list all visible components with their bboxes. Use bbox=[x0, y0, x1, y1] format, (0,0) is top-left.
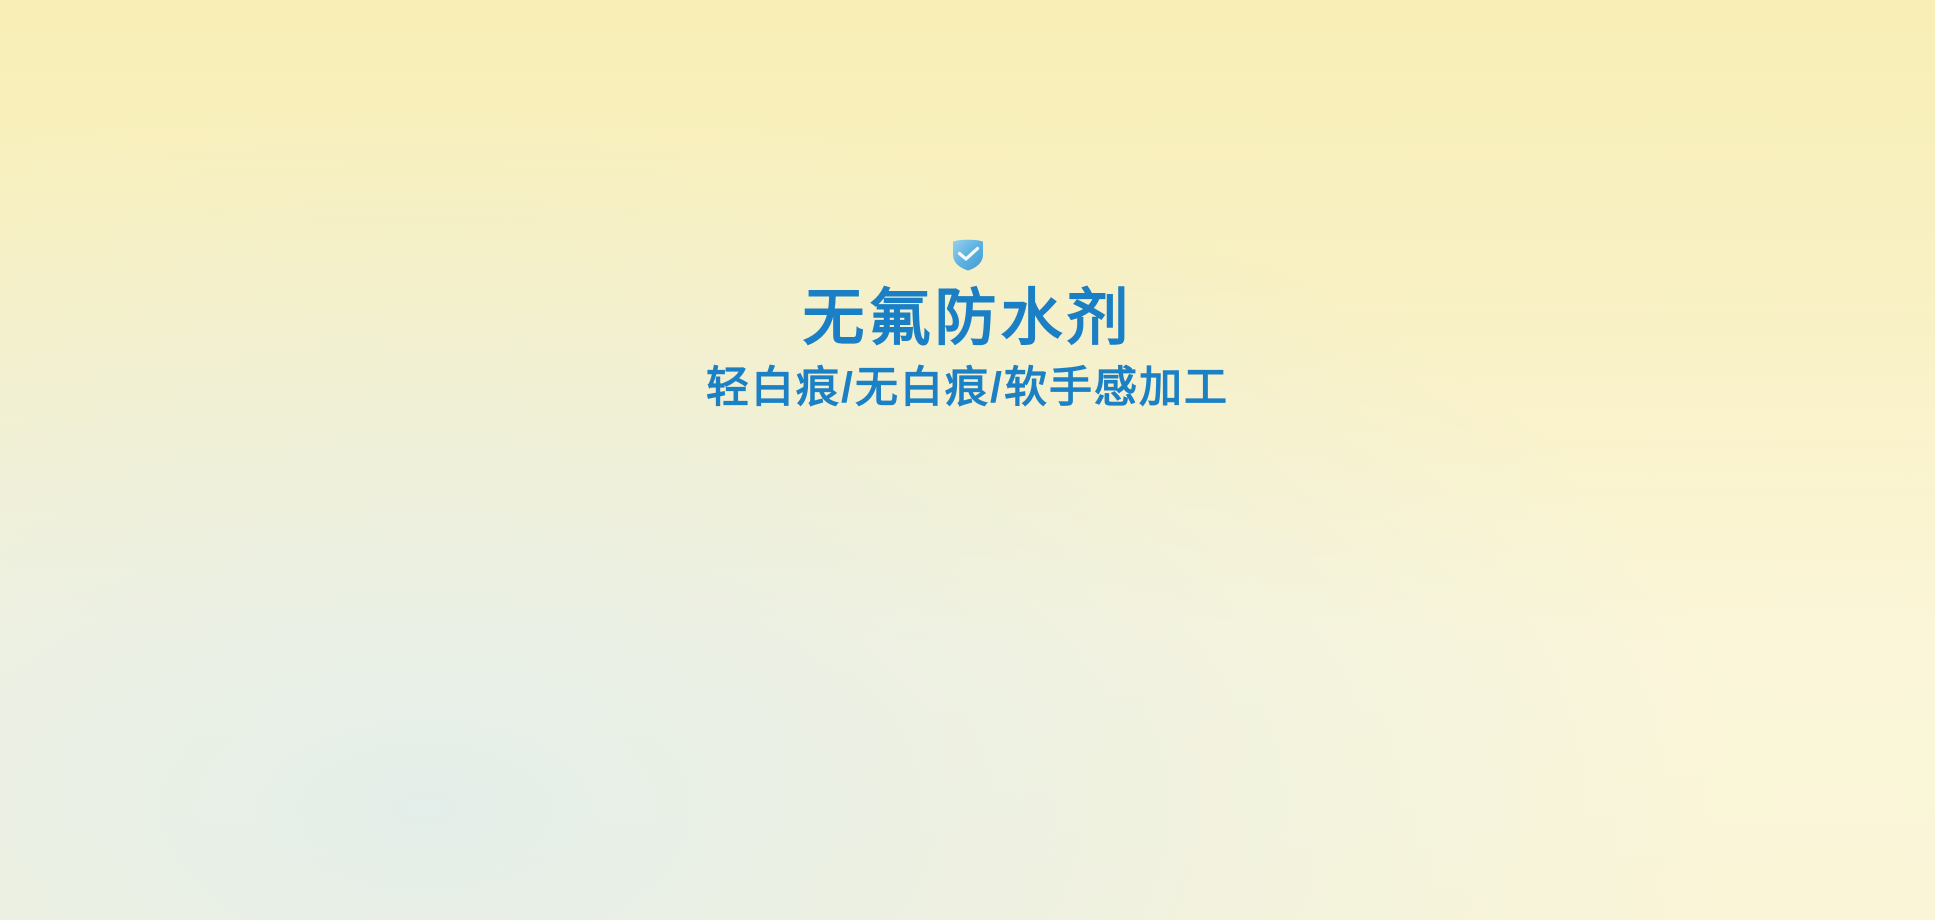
bg-top-left-deep-wedge bbox=[0, 0, 1935, 920]
bg-top-right-yellow-corner bbox=[0, 0, 1935, 920]
bg-top-right-thin-line bbox=[0, 0, 1935, 920]
bg-top-right-band-2 bbox=[0, 0, 1935, 920]
product-banner: 无氟防水剂 轻白痕/无白痕/软手感加工 bbox=[0, 0, 1935, 920]
bg-top-right-band bbox=[0, 0, 1935, 920]
bg-white-peak-panel bbox=[0, 0, 1935, 920]
bg-bottom-white-wash bbox=[0, 0, 1935, 920]
page-subtitle: 轻白痕/无白痕/软手感加工 bbox=[0, 365, 1935, 412]
bg-texture-haze bbox=[0, 0, 1935, 920]
bg-top-right-pale-wedge bbox=[0, 0, 1935, 920]
bg-bottom-chevron-blue bbox=[0, 0, 1935, 920]
bg-bottom-chevron-top-edge bbox=[0, 0, 1935, 920]
bg-top-right-yellow-inner bbox=[0, 0, 1935, 920]
bg-top-left-darker-wedge bbox=[0, 0, 1935, 920]
banner-content: 无氟防水剂 轻白痕/无白痕/软手感加工 bbox=[0, 232, 1935, 412]
bg-highlight-line-right-upper bbox=[0, 0, 1935, 920]
bg-bottom-chevron-blue-dark bbox=[0, 0, 1935, 920]
bg-bottom-chevron-yellow bbox=[0, 0, 1935, 920]
bg-top-left-pale-band bbox=[0, 0, 1935, 920]
bg-bottom-chevron-pale bbox=[0, 0, 1935, 920]
bg-top-left-stripe bbox=[0, 0, 1935, 920]
bg-highlight-line-right-lower bbox=[0, 0, 1935, 920]
bg-left-edge-strip bbox=[0, 0, 1935, 920]
page-title: 无氟防水剂 bbox=[0, 286, 1935, 351]
shield-check-icon bbox=[946, 232, 990, 276]
bg-top-left-light-band bbox=[0, 0, 1935, 920]
bg-highlight-line-left bbox=[0, 0, 1935, 920]
